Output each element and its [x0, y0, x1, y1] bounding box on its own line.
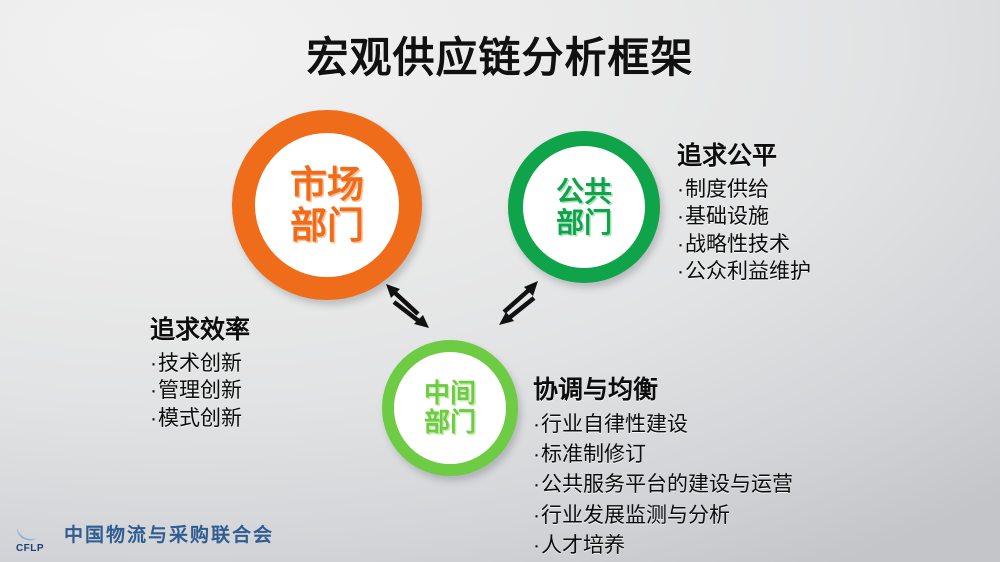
bullet-icon: ·	[533, 413, 540, 436]
node-intermediate-sector[interactable]: 中间 部门	[382, 340, 518, 476]
footer: CFLP 中国物流与采购联合会	[8, 512, 274, 554]
block-coordination-item: ·人才培养	[533, 531, 793, 561]
block-coordination: 协调与均衡 ·行业自律性建设 ·标准制修订 ·公共服务平台的建设与运营 ·行业发…	[533, 370, 793, 561]
block-fairness-item: ·制度供给	[677, 176, 811, 203]
block-coordination-item-label: 标准制修订	[541, 443, 646, 466]
block-coordination-item: ·标准制修订	[533, 440, 793, 470]
block-fairness: 追求公平 ·制度供给 ·基础设施 ·战略性技术 ·公众利益维护	[677, 136, 811, 285]
bullet-icon: ·	[677, 178, 684, 201]
block-fairness-item: ·公众利益维护	[677, 258, 811, 285]
block-coordination-item-label: 人才培养	[541, 534, 625, 557]
node-market-line-1: 市场	[290, 164, 364, 205]
node-public-line-2: 部门	[556, 207, 612, 238]
block-efficiency-item: ·模式创新	[150, 405, 250, 432]
block-fairness-item-label: 制度供给	[685, 178, 769, 201]
block-fairness-item-label: 战略性技术	[685, 233, 790, 256]
connector-intermediate-public-double-arrow	[490, 274, 548, 330]
block-efficiency: 追求效率 ·技术创新 ·管理创新 ·模式创新	[150, 310, 250, 432]
slide-canvas: 宏观供应链分析框架 市场 部门 公共 部门 中间 部门	[0, 0, 1000, 562]
node-public-line-1: 公共	[556, 176, 612, 207]
block-efficiency-item-label: 模式创新	[158, 407, 242, 430]
block-fairness-item-label: 公众利益维护	[685, 260, 811, 283]
block-coordination-item-label: 行业发展监测与分析	[541, 504, 730, 527]
block-coordination-item: ·公共服务平台的建设与运营	[533, 470, 793, 500]
bullet-icon: ·	[677, 233, 684, 256]
block-fairness-item: ·战略性技术	[677, 231, 811, 258]
bullet-icon: ·	[533, 473, 540, 496]
block-efficiency-item-label: 管理创新	[158, 379, 242, 402]
block-coordination-item: ·行业自律性建设	[533, 410, 793, 440]
node-intermediate-line-1: 中间	[424, 379, 476, 408]
block-efficiency-item-label: 技术创新	[158, 352, 242, 375]
connector-market-intermediate-double-arrow	[380, 278, 440, 336]
block-fairness-item: ·基础设施	[677, 203, 811, 230]
block-coordination-heading: 协调与均衡	[533, 370, 793, 406]
node-intermediate-line-2: 部门	[424, 408, 476, 437]
bullet-icon: ·	[533, 534, 540, 557]
svg-text:CFLP: CFLP	[16, 543, 44, 554]
footer-organization-name: 中国物流与采购联合会	[64, 520, 274, 547]
block-coordination-item-label: 公共服务平台的建设与运营	[541, 473, 793, 496]
block-fairness-heading: 追求公平	[677, 136, 811, 172]
bullet-icon: ·	[533, 504, 540, 527]
block-coordination-item: ·行业发展监测与分析	[533, 501, 793, 531]
node-market-line-2: 部门	[290, 205, 364, 246]
bullet-icon: ·	[533, 443, 540, 466]
node-public-sector[interactable]: 公共 部门	[508, 131, 660, 283]
node-market-sector[interactable]: 市场 部门	[232, 110, 422, 300]
bullet-icon: ·	[150, 352, 157, 375]
page-title: 宏观供应链分析框架	[0, 24, 1000, 85]
bullet-icon: ·	[150, 407, 157, 430]
bullet-icon: ·	[150, 379, 157, 402]
block-efficiency-item: ·管理创新	[150, 377, 250, 404]
bullet-icon: ·	[677, 205, 684, 228]
bullet-icon: ·	[677, 260, 684, 283]
block-efficiency-item: ·技术创新	[150, 350, 250, 377]
block-efficiency-heading: 追求效率	[150, 310, 250, 346]
block-fairness-item-label: 基础设施	[685, 205, 769, 228]
block-coordination-item-label: 行业自律性建设	[541, 413, 688, 436]
cflp-logo-icon: CFLP	[8, 512, 54, 554]
